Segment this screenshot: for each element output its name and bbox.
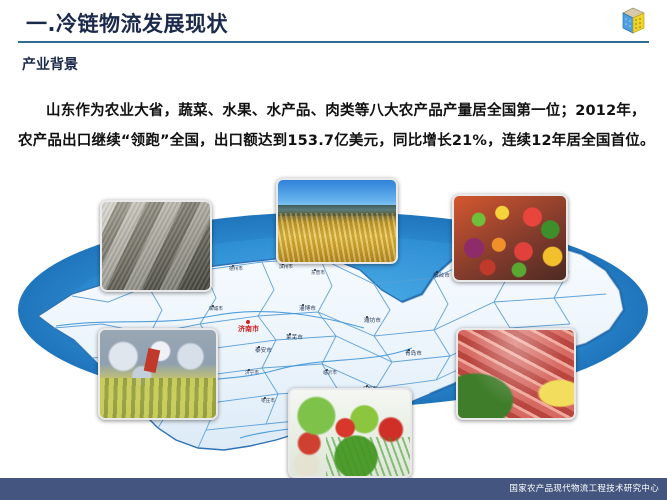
footer-organization-name: 国家农产品现代物流工程技术研究中心 [509,482,659,494]
city-label: 滨州市 [279,266,293,271]
title-divider [18,41,649,43]
photo-fruits-image [454,196,566,280]
photo-fruits[interactable] [452,194,568,282]
city-label: 聊城市 [209,308,223,313]
section-subtitle: 产业背景 [22,54,78,74]
city-label: 淄博市 [299,307,316,313]
footer-bar: 国家农产品现代物流工程技术研究中心 [0,478,667,500]
city-label: 东营市 [311,272,325,277]
city-label: 烟台市 [433,274,450,280]
photo-vegetables-image [290,390,410,476]
illustration-collage: 济南市 淄博市 潍坊市 东营市 滨州市 德州市 烟台市 威海市 青岛市 日照市 … [0,176,667,476]
photo-vegetables[interactable] [288,388,412,478]
city-label: 青岛市 [405,352,422,358]
city-label: 枣庄市 [261,400,275,405]
city-label: 济宁市 [245,372,259,377]
photo-meat[interactable] [456,328,576,420]
body-line: 山东作为农业大省，蔬菜、水果、水产品、肉类等八大农产品产量居全国第一位；2012… [18,96,658,156]
city-dot-capital [246,320,250,324]
photo-meat-image [458,330,574,418]
photo-grain-field-image [278,180,396,262]
slide-canvas: 一.冷链物流发展现状 产业背景 山东作为农业大省，蔬菜、水果、水产品、肉类等八大… [0,0,667,500]
body-paragraph: 山东作为农业大省，蔬菜、水果、水产品、肉类等八大农产品产量居全国第一位；2012… [18,96,658,156]
city-label: 德州市 [229,268,243,273]
photo-processing-plant-image [100,330,216,418]
page-title: 一.冷链物流发展现状 [26,8,228,38]
photo-aquatic-products-image [102,202,210,290]
city-label: 潍坊市 [364,319,381,325]
photo-processing-plant[interactable] [98,328,218,420]
city-label: 莱芜市 [286,336,303,342]
city-label: 临沂市 [323,372,337,377]
city-label-capital: 济南市 [238,326,259,333]
photo-grain-field[interactable] [276,178,398,264]
photo-aquatic-products[interactable] [100,200,212,292]
city-label: 泰安市 [255,349,272,355]
cube-logo-icon [619,6,647,36]
